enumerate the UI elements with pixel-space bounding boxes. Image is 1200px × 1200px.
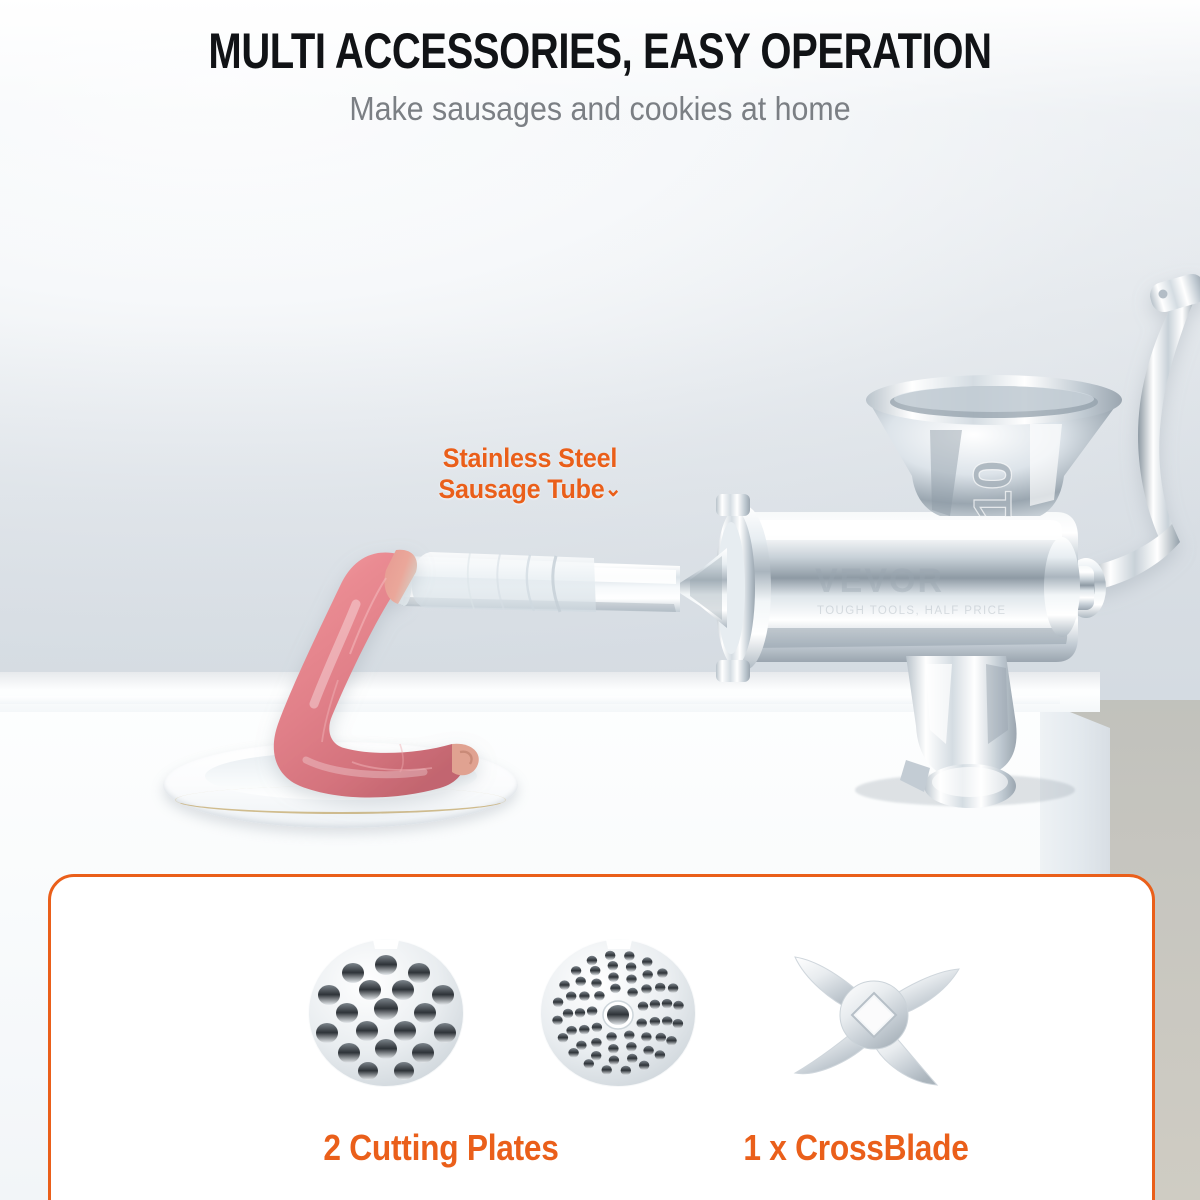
accessory-label-cross-blade: 1 x CrossBlade (671, 1127, 1041, 1169)
ring-tab-bottom (716, 660, 750, 682)
clamp-leg (900, 656, 1017, 808)
svg-text:10: 10 (963, 460, 1023, 520)
callout-sausage-tube: Stainless Steel Sausage Tube⌄ (423, 443, 637, 506)
product-marketing-image: MULTI ACCESSORIES, EASY OPERATION Make s… (0, 0, 1200, 1200)
feed-hopper: 10 10 (866, 375, 1122, 520)
brand-wordmark: VEVOR (815, 562, 944, 600)
locking-ring (672, 494, 771, 682)
cutting-plate-coarse-icon (291, 935, 481, 1095)
crank-arm (1086, 271, 1200, 592)
brand-tagline: TOUGH TOOLS, HALF PRICE (817, 605, 1006, 617)
callout-line-2: Sausage Tube (438, 474, 604, 504)
cross-blade-icon (769, 927, 979, 1102)
cutting-plate-fine-icon (523, 935, 713, 1095)
ring-tab-top (716, 494, 750, 516)
body-end-collar (1044, 537, 1080, 637)
sausage-casing (412, 552, 596, 612)
chevron-down-icon: ⌄ (605, 476, 622, 502)
sausage-stuffing-tube (396, 552, 680, 612)
sausage-tied-end (452, 744, 479, 776)
accessory-label-cutting-plates: 2 Cutting Plates (256, 1127, 626, 1169)
accessories-card: 2 Cutting Plates 1 x CrossBlade (48, 874, 1155, 1200)
crank-handle-grip (1147, 271, 1200, 315)
callout-line-1: Stainless Steel (423, 443, 637, 474)
